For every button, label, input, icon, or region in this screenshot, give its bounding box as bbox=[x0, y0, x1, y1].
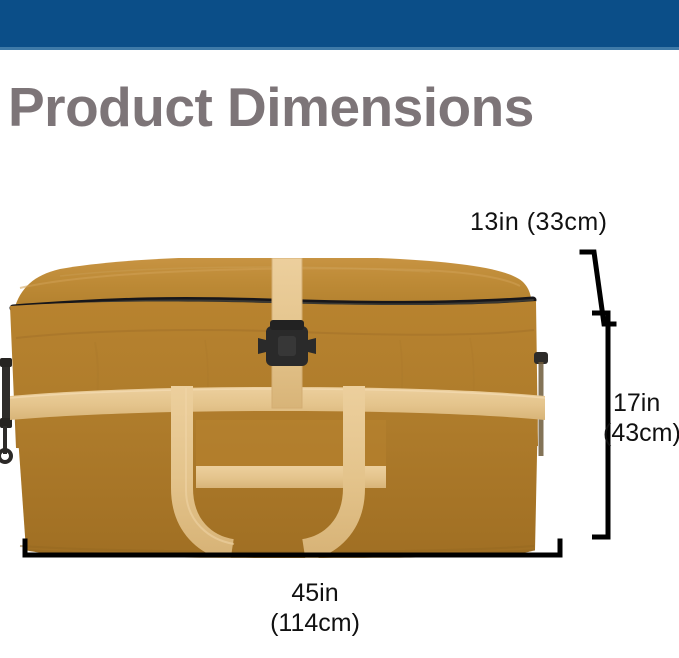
width-dimension-label: 45in (114cm) bbox=[235, 578, 395, 638]
product-image-duffel-bag bbox=[0, 258, 585, 558]
top-banner bbox=[0, 0, 679, 47]
width-inches: 45in bbox=[291, 579, 338, 607]
width-centimeters: (114cm) bbox=[235, 608, 395, 638]
height-inches: 17in bbox=[613, 389, 660, 417]
depth-dimension-label: 13in (33cm) bbox=[470, 207, 608, 237]
height-centimeters: (43cm) bbox=[603, 418, 679, 448]
top-banner-underline bbox=[0, 47, 679, 50]
page-title: Product Dimensions bbox=[8, 76, 679, 138]
product-dimensions-infographic: Product Dimensions bbox=[0, 0, 679, 658]
width-measure-bracket bbox=[22, 538, 567, 564]
height-dimension-label: 17in (43cm) bbox=[613, 388, 679, 448]
